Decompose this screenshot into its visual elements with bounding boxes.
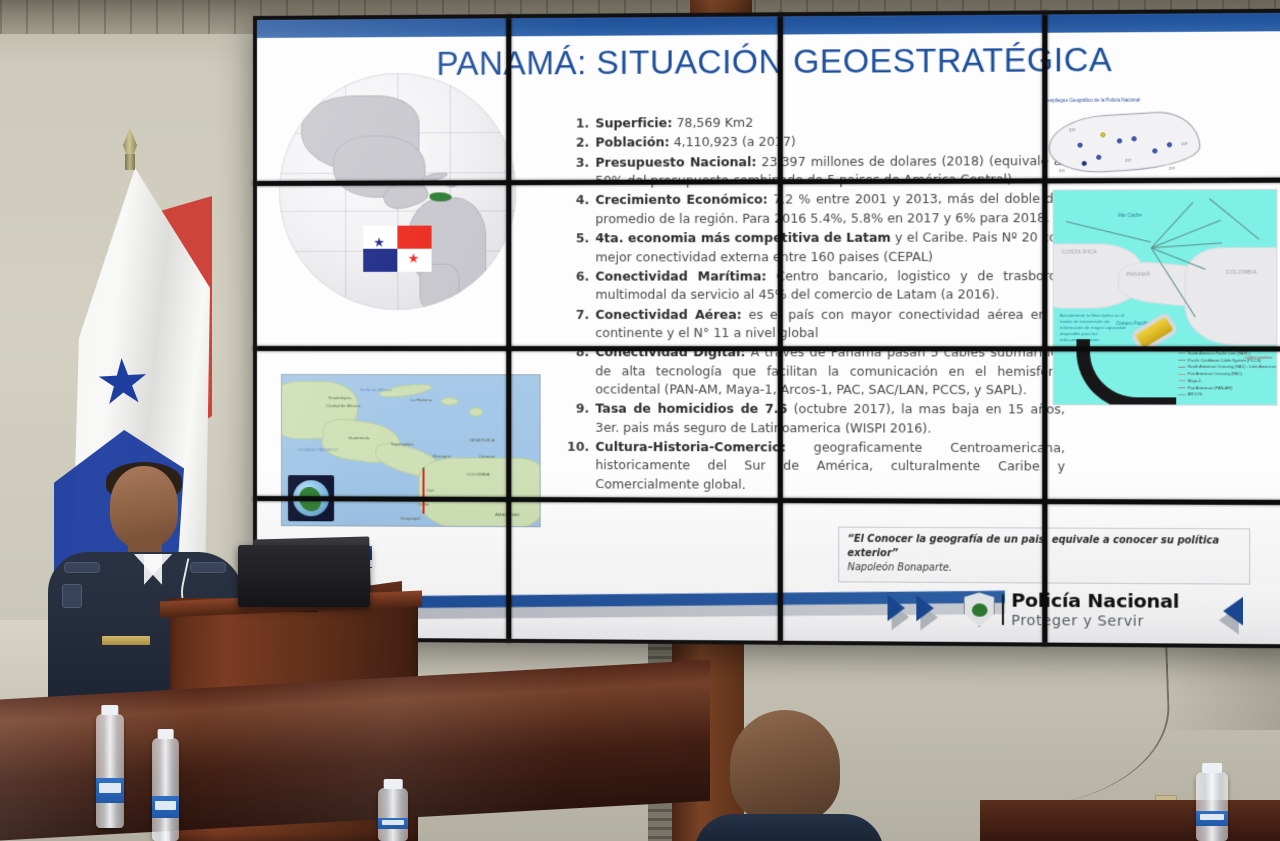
panama-outline <box>1047 110 1202 175</box>
bottle-body <box>1196 772 1228 841</box>
org-title: Policía Nacional <box>1011 592 1179 612</box>
bottle-label <box>96 778 124 803</box>
conference-room: PANAMÁ: SITUACIÓN GEOESTRATÉGICA <box>0 0 1280 841</box>
chevron-right-icon <box>916 595 934 622</box>
presenter-monitor[interactable] <box>238 545 370 607</box>
audience-head <box>730 710 840 822</box>
police-badge-icon <box>964 592 995 627</box>
list-item: 3.Presupuesto Nacional: 23,397 millones … <box>567 152 1065 191</box>
globe-graphic: ★ ★ <box>271 60 524 352</box>
conference-table-right <box>980 800 1280 841</box>
quote-box: “El Conocer la geografía de un pais, equ… <box>838 527 1250 585</box>
bottle-label <box>378 818 408 830</box>
water-bottle[interactable] <box>378 788 408 841</box>
list-item: 7.Conectividad Aérea: es el país con may… <box>567 305 1065 342</box>
audience-member <box>712 710 862 841</box>
bottle-label <box>152 796 179 819</box>
bottle-cap <box>101 705 118 715</box>
list-item: 4.Crecimiento Económico: 7.2 % entre 200… <box>567 190 1065 229</box>
panama-highlight <box>430 192 452 201</box>
list-item: 6.Conectividad Marítima: Centro bancario… <box>567 267 1065 305</box>
fiber-cable-photo <box>1076 323 1188 406</box>
list-item: 10.Cultura-Historia-Comercio: geografica… <box>567 438 1065 495</box>
flag-blue-star-icon: ★ <box>93 351 152 416</box>
bottle-body <box>378 788 408 841</box>
bottle-body <box>152 738 179 841</box>
cable-legend: Cables marinos South America Pacific Lin… <box>1178 350 1274 398</box>
bottle-label <box>1196 811 1228 826</box>
logo-divider <box>1002 595 1004 626</box>
flag-ferrule <box>125 154 135 170</box>
list-item: 8.Conectividad Digital: A través de Pana… <box>567 343 1065 399</box>
list-item: 9.Tasa de homicidios de 7.6 (octubre 201… <box>567 400 1065 438</box>
globe-sphere: ★ ★ <box>279 72 516 310</box>
officer-shoulder-patch <box>62 584 82 608</box>
officer-epaulet-left <box>64 562 100 573</box>
central-america-map: Golfo de México OCÉANO PACÍFICO Ciudad d… <box>281 374 541 527</box>
org-motto: Proteger y Servir <box>1011 613 1179 628</box>
chevron-right-icon <box>888 595 905 621</box>
water-bottle[interactable] <box>1196 772 1228 841</box>
officer-nameplate <box>102 636 150 645</box>
audience-shoulders <box>694 814 884 841</box>
water-bottle[interactable] <box>96 714 124 828</box>
bottle-cap <box>384 779 403 789</box>
video-wall[interactable]: PANAMÁ: SITUACIÓN GEOESTRATÉGICA <box>253 9 1280 649</box>
quote-text: “El Conocer la geografía de un pais, equ… <box>847 533 1240 563</box>
list-item: 2.Población: 4,110,923 (a 2017) <box>567 132 1065 153</box>
submarine-cable-map: Mar Caribe Océano Pacífico COSTA RICA PA… <box>1053 189 1278 406</box>
police-logo: Policía Nacional Proteger y Servir <box>964 592 1180 628</box>
panama-flag-overlay: ★ ★ <box>363 226 431 272</box>
bottle-cap <box>1202 763 1222 773</box>
bottle-cap <box>157 729 174 739</box>
presentation-slide: PANAMÁ: SITUACIÓN GEOESTRATÉGICA <box>253 9 1280 649</box>
globe-thumbnail-icon <box>288 475 334 521</box>
quote-author: Napoleón Bonaparte. <box>847 561 1240 577</box>
bullet-list: 1.Superficie: 78,569 Km2 2.Población: 4,… <box>567 112 1065 496</box>
list-item: 1.Superficie: 78,569 Km2 <box>567 112 1065 133</box>
bottle-body <box>96 714 124 828</box>
list-item: 5.4ta. economia más competitiva de Latam… <box>567 228 1065 266</box>
panama-deployment-map: Despliegue Geográfico de la Policía Naci… <box>1036 97 1211 183</box>
chevron-left-icon <box>1223 597 1243 626</box>
water-bottle[interactable] <box>152 738 179 841</box>
